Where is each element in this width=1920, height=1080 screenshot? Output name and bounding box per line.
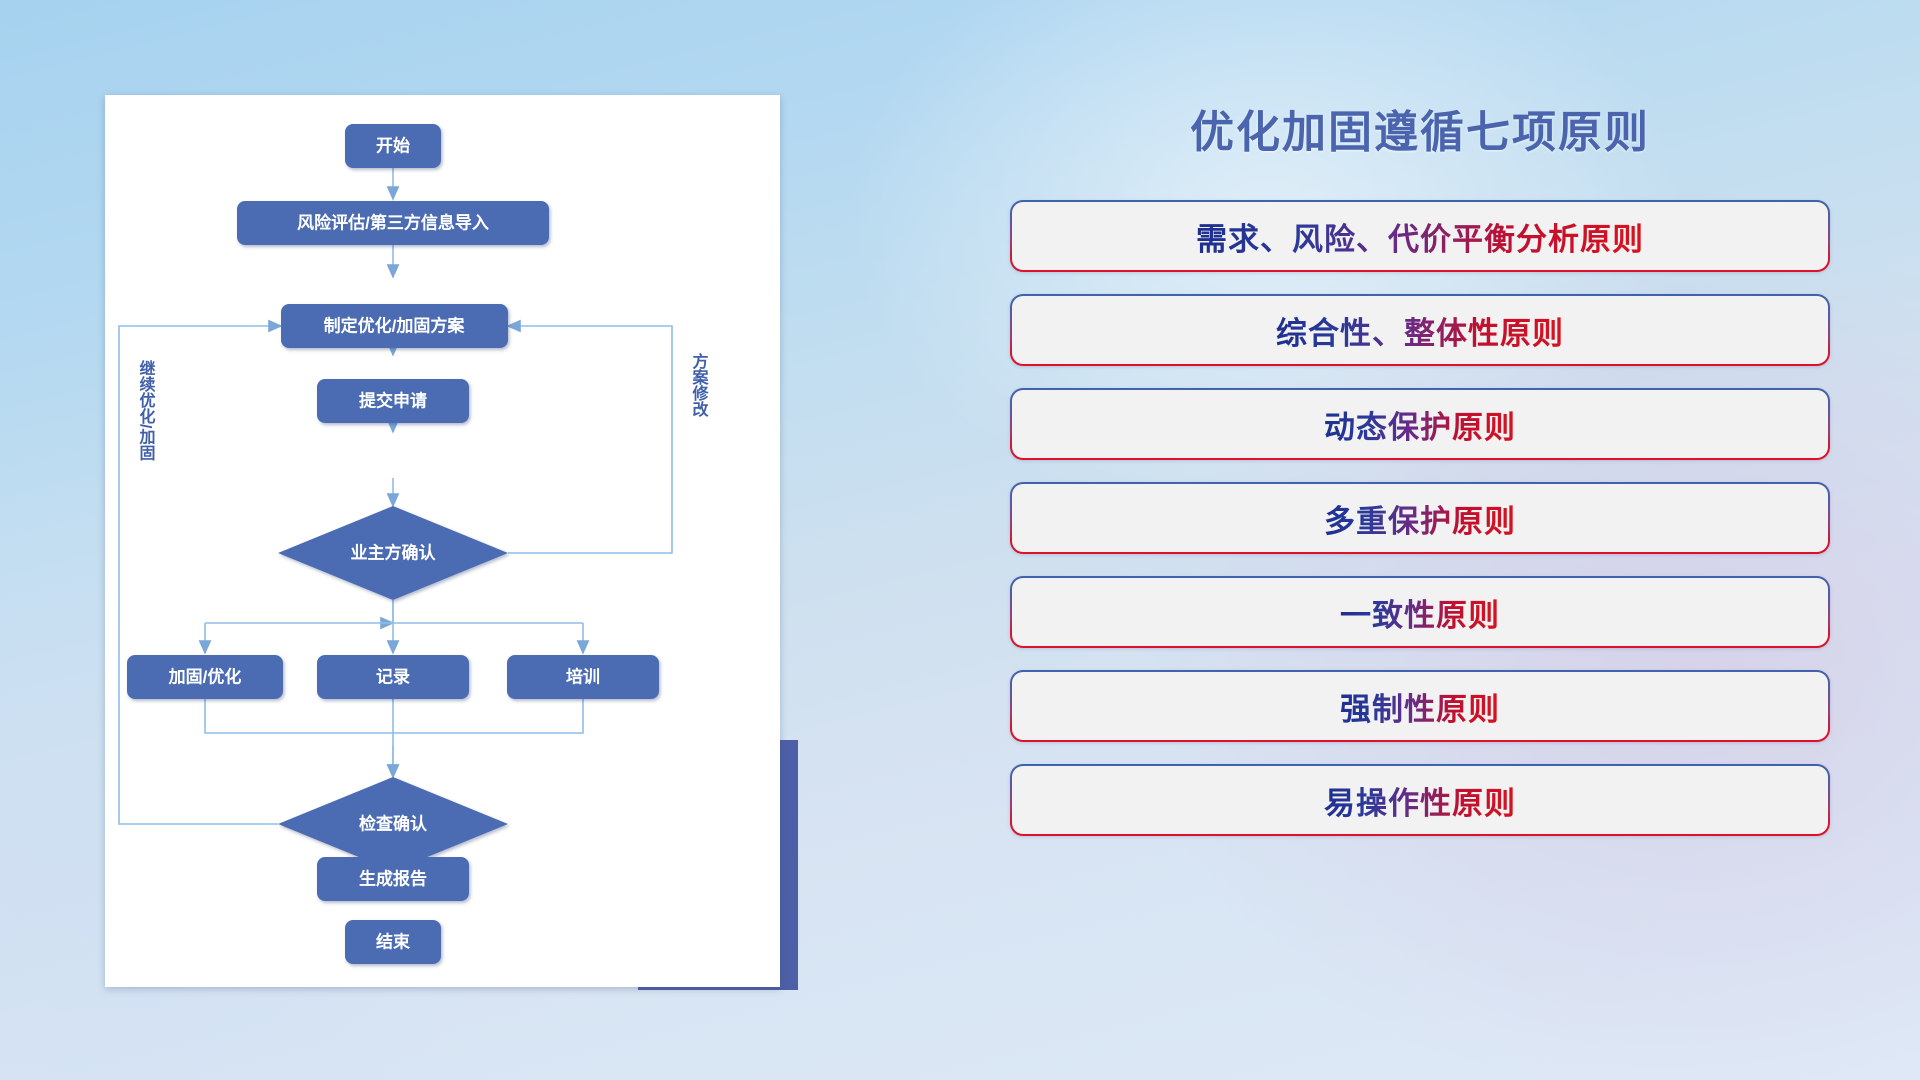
flow-node-label: 培训: [566, 667, 600, 687]
flow-node-label: 提交申请: [359, 391, 427, 411]
principle-card-inner: 强制性原则: [1012, 672, 1828, 740]
principles-list: 需求、风险、代价平衡分析原则 综合性、整体性原则 动态保护原则 多重保护原则: [1010, 200, 1830, 836]
edge-label-plan-revision: 方案修改: [690, 352, 710, 418]
edge-label-continue-optimize: 继续优化/加固: [137, 359, 157, 461]
principle-label: 需求、风险、代价平衡分析原则: [1196, 214, 1644, 259]
flow-node-label: 加固/优化: [168, 667, 242, 687]
flow-node-label: 业主方确认: [351, 543, 437, 563]
flow-node-label: 制定优化/加固方案: [324, 316, 466, 336]
flow-node-label: 检查确认: [359, 814, 428, 834]
principle-card-inner: 动态保护原则: [1012, 390, 1828, 458]
principle-card[interactable]: 综合性、整体性原则: [1010, 294, 1830, 366]
principle-card[interactable]: 多重保护原则: [1010, 482, 1830, 554]
principle-card-inner: 易操作性原则: [1012, 766, 1828, 834]
flowchart-diagram: 开始 风险评估/第三方信息导入 制定优化/加固方案 提交申请 业主方确认 加固/…: [105, 95, 780, 987]
principle-label: 一致性原则: [1340, 590, 1500, 635]
principle-card[interactable]: 易操作性原则: [1010, 764, 1830, 836]
principle-card-inner: 多重保护原则: [1012, 484, 1828, 552]
principle-label: 强制性原则: [1340, 684, 1500, 729]
principle-label: 综合性、整体性原则: [1276, 308, 1564, 353]
principle-card[interactable]: 一致性原则: [1010, 576, 1830, 648]
principle-label: 动态保护原则: [1324, 402, 1516, 447]
flow-node-label: 风险评估/第三方信息导入: [297, 213, 489, 233]
principle-card[interactable]: 需求、风险、代价平衡分析原则: [1010, 200, 1830, 272]
slide-canvas: 开始 风险评估/第三方信息导入 制定优化/加固方案 提交申请 业主方确认 加固/…: [0, 0, 1920, 1080]
principle-card-inner: 一致性原则: [1012, 578, 1828, 646]
principle-label: 易操作性原则: [1324, 778, 1516, 823]
flow-node-label: 生成报告: [359, 869, 427, 889]
principles-panel: 优化加固遵循七项原则 需求、风险、代价平衡分析原则 综合性、整体性原则 动态保护…: [1010, 96, 1830, 996]
principle-card-inner: 需求、风险、代价平衡分析原则: [1012, 202, 1828, 270]
principle-card-inner: 综合性、整体性原则: [1012, 296, 1828, 364]
principle-card[interactable]: 动态保护原则: [1010, 388, 1830, 460]
principle-card[interactable]: 强制性原则: [1010, 670, 1830, 742]
flowchart-card: 开始 风险评估/第三方信息导入 制定优化/加固方案 提交申请 业主方确认 加固/…: [105, 95, 780, 987]
panel-title: 优化加固遵循七项原则: [1010, 96, 1830, 160]
flow-node-label: 结束: [376, 932, 410, 952]
right-loop-connector: [508, 326, 672, 553]
flow-node-label: 记录: [376, 668, 410, 687]
flow-node-label: 开始: [376, 136, 410, 156]
principle-label: 多重保护原则: [1324, 496, 1516, 541]
